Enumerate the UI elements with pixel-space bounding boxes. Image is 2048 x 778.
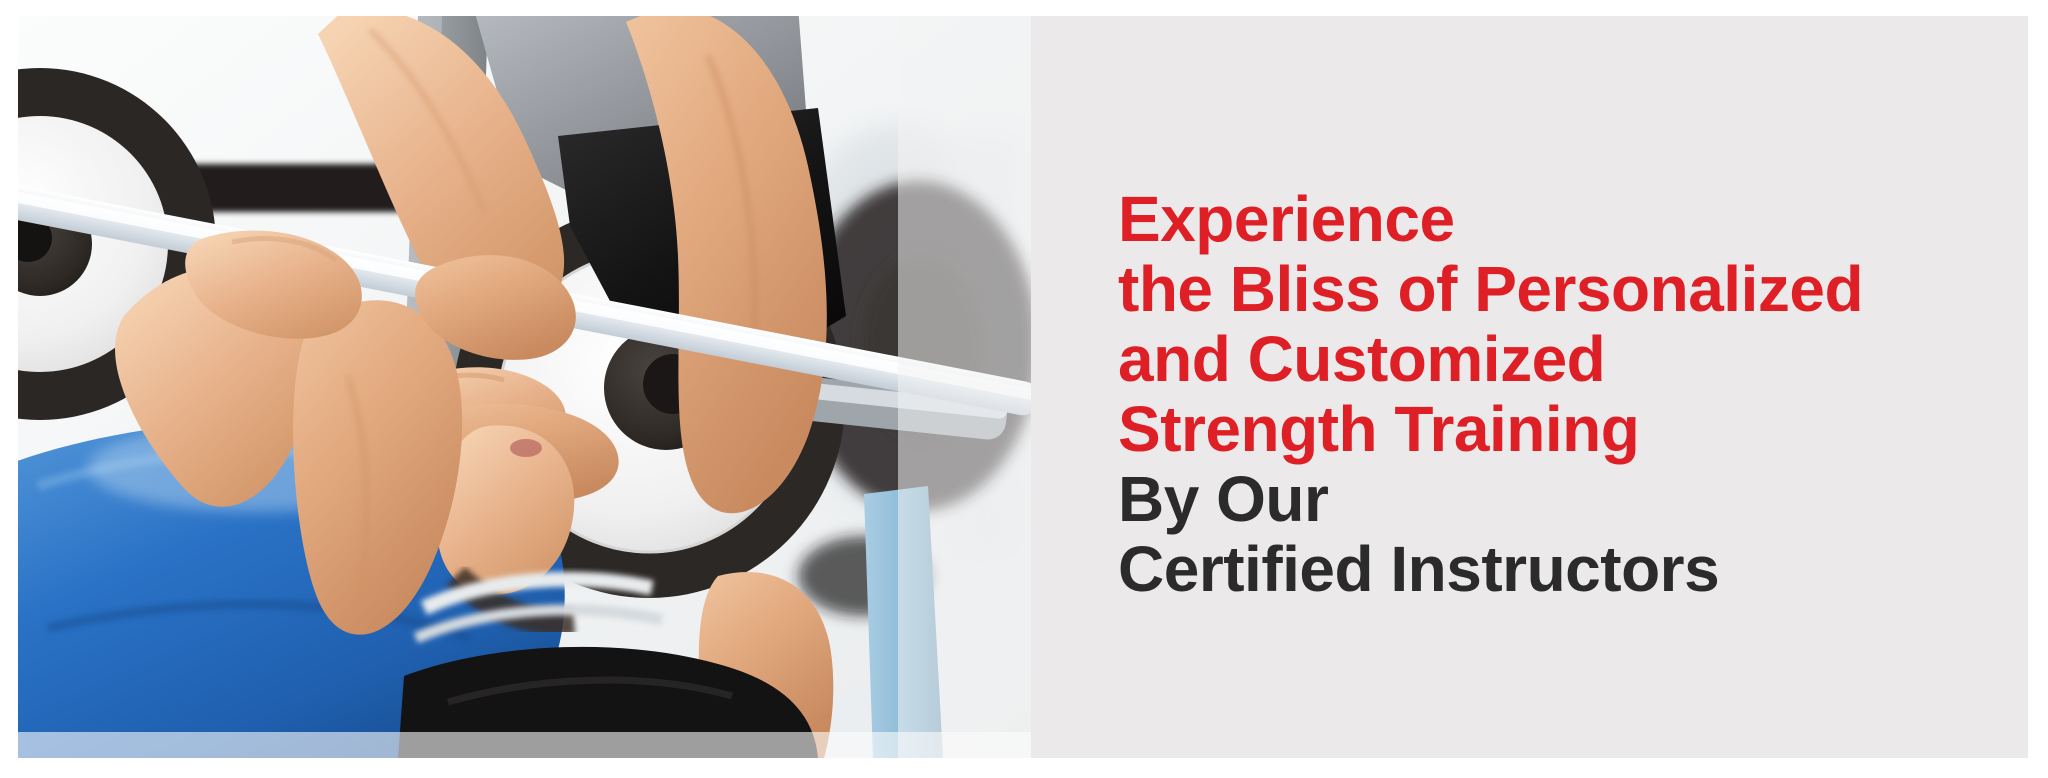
headline-line-4: Strength Training	[1118, 394, 1998, 464]
gym-bench-press-photo	[18, 16, 1031, 758]
banner-panel: Experience the Bliss of Personalized and…	[18, 16, 2028, 758]
headline-block: Experience the Bliss of Personalized and…	[1118, 184, 1998, 604]
headline-line-6: Certified Instructors	[1118, 534, 1998, 604]
headline-line-2: the Bliss of Personalized	[1118, 254, 1998, 324]
headline-line-5: By Our	[1118, 464, 1998, 534]
headline-line-1: Experience	[1118, 184, 1998, 254]
photo-bottom-fade	[18, 732, 1031, 758]
headline-line-3: and Customized	[1118, 324, 1998, 394]
photo-right-fade	[898, 16, 1031, 758]
promo-banner: Experience the Bliss of Personalized and…	[0, 0, 2048, 778]
photo-illustration	[18, 16, 1031, 758]
